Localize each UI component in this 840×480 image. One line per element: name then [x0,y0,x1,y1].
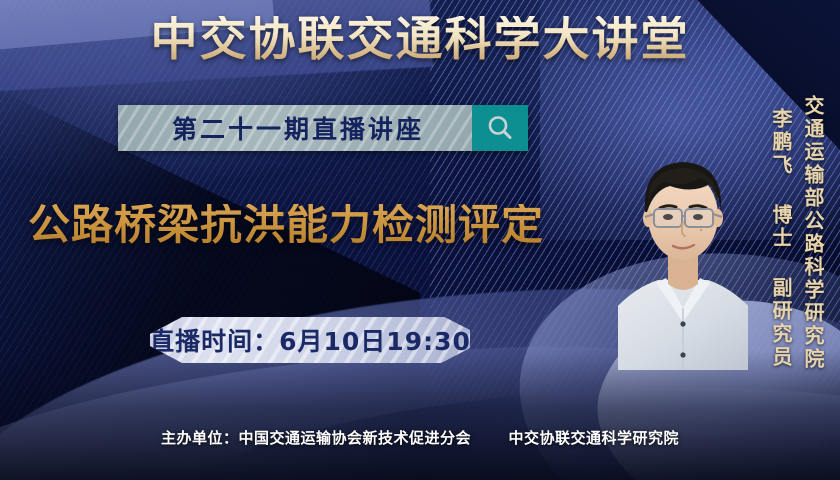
episode-bar: 第二十一期直播讲座 [118,105,528,151]
page-title: 中交协联交通科学大讲堂 [0,16,840,63]
footer-organizer-primary: 主办单位：中国交通运输协会新技术促进分会 [161,429,471,447]
live-time-label: 直播时间：6月10日19:30 [150,322,470,358]
footer-organizers: 主办单位：中国交通运输协会新技术促进分会 中交协联交通科学研究院 [0,427,840,448]
livestream-poster: 交通运输部公路科学研究院 李鹏飞 博士 副研究员 中交协联交通科学大讲堂 第二十… [0,0,840,480]
episode-label: 第二十一期直播讲座 [118,110,472,146]
footer-organizer-secondary: 中交协联交通科学研究院 [508,429,679,447]
search-icon [485,113,515,143]
speaker-name: 李鹏飞 博士 副研究员 [767,108,796,369]
live-time-banner: 直播时间：6月10日19:30 [150,315,470,365]
search-button[interactable] [472,105,528,151]
speaker-organization: 交通运输部公路科学研究院 [799,95,828,371]
background-ribbon-3 [156,367,840,480]
speaker-portrait [618,112,748,370]
lecture-headline: 公路桥梁抗洪能力检测评定 [28,204,544,246]
